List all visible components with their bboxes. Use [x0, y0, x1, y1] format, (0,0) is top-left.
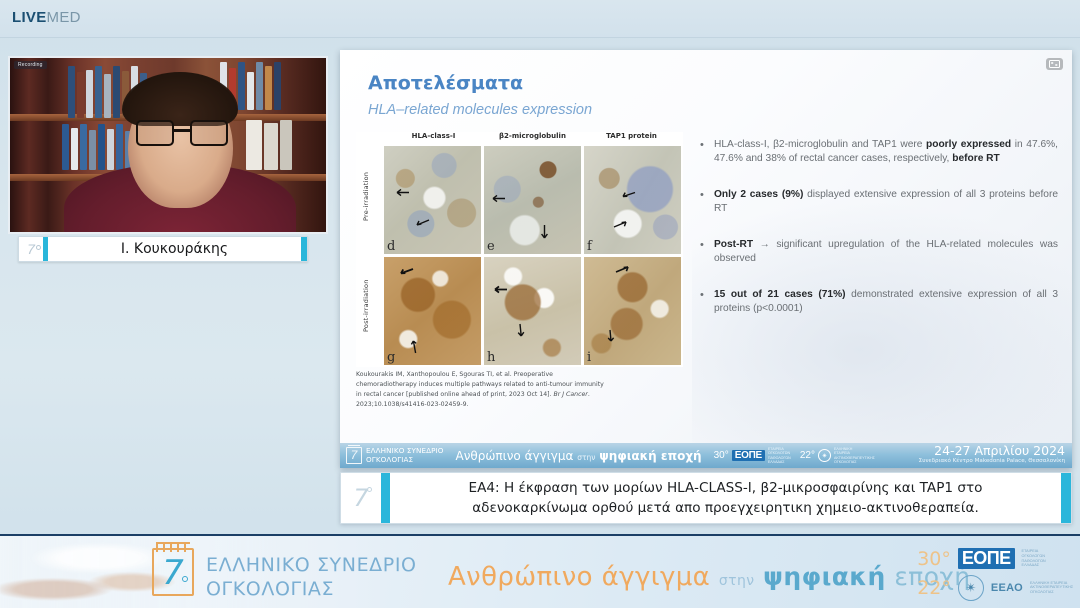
figure-panel-grid: d e: [384, 146, 681, 365]
brandbar-eelo-subtitle: ΕΛΛΗΝΙΚΗ ΕΤΑΙΡΕΙΑ ΑΚΤΙΝΟΘΕΡΑΠΕΥΤΙΚΗΣ ΟΓΚ…: [1030, 581, 1070, 595]
brandbar-eelo-number: 22°: [917, 577, 951, 599]
congress-venue: Συνεδριακό Κέντρο Makedonia Palace, Θεσσ…: [919, 457, 1065, 465]
brandbar-eelo-logo: ΕΕΑΟ: [991, 582, 1023, 594]
panel-letter-d: d: [387, 239, 395, 254]
crab-seal-icon: ✴: [958, 575, 984, 601]
speaker-glasses: [136, 120, 228, 146]
accent-bar-right: [301, 237, 307, 261]
congress-line-2: ΟΓΚΟΛΟΓΙΑΣ: [366, 456, 444, 464]
org-eelo-subtitle: ΕΛΛΗΝΙΚΗ ΕΤΑΙΡΕΙΑ ΑΚΤΙΝΟΘΕΡΑΠΕΥΤΙΚΗΣ ΟΓΚ…: [834, 447, 860, 464]
citation-line-2: chemoradiotherapy induces multiple pathw…: [356, 380, 676, 390]
panel-letter-i: i: [587, 350, 591, 365]
org-eelo-number: 22°: [800, 450, 815, 461]
micrograph-panel-e: e: [484, 146, 581, 254]
figure-row-label-pre: Pre-irradiation: [362, 154, 375, 239]
speaker-name-plate: 7 Ι. Κουκουράκης: [18, 236, 308, 262]
brandbar-eope-logo: ΕΟΠΕ: [958, 548, 1015, 569]
panel-letter-e: e: [487, 239, 495, 254]
accent-bar-left: [381, 473, 390, 523]
bullet-text: HLA-class-I, β2-microglobulin and TAP1 w…: [714, 138, 1058, 167]
citation-line-4: 2023;10.1038/s41416-023-02459-9.: [356, 400, 676, 410]
bullet-marker-icon: •: [700, 288, 714, 317]
brandbar-theme: Ανθρώπινο άγγιγμα στην ψηφιακή εποχή: [448, 562, 970, 592]
crab-seal-icon: ✴: [818, 449, 831, 462]
logo-med-text: MED: [47, 9, 81, 26]
brandbar-eope-subtitle: ΕΤΑΙΡΕΙΑ ΟΓΚΟΛΟΓΩΝ ΠΑΘΟΛΟΓΩΝ ΕΛΛΑΔΑΣ: [1022, 549, 1062, 567]
brandbar-congress-line-2: ΟΓΚΟΛΟΓΙΑΣ: [206, 577, 417, 601]
panel-letter-h: h: [487, 350, 495, 365]
bullet-marker-icon: •: [700, 188, 714, 217]
slide-footer-org-logos: 30° ΕΟΠΕ ΕΤΑΙΡΕΙΑ ΟΓΚΟΛΟΓΩΝ ΠΑΘΟΛΟΓΩΝ ΕΛ…: [714, 447, 860, 464]
slide-footer-date-block: 24-27 Απριλίου 2024 Συνεδριακό Κέντρο Ma…: [919, 444, 1065, 465]
bullet-text: Only 2 cases (9%) displayed extensive ex…: [714, 188, 1058, 217]
badge-degree-ring-icon: [182, 576, 188, 582]
book-row-4: [246, 120, 292, 170]
caption-line-1: ΕΑ4: Η έκφραση των μορίων HLA-CLASS-I, β…: [469, 478, 983, 498]
theme-small: στην: [577, 453, 595, 462]
bullet-emphasis: before RT: [952, 153, 1000, 164]
caption-line-2: αδενοκαρκίνωμα ορθού μετά απο προεγχειρη…: [469, 498, 983, 518]
micrograph-panel-i: i: [584, 257, 681, 365]
speaker-video-tile[interactable]: Recording: [8, 56, 328, 234]
org-eelo-block: 22° ✴ ΕΛΛΗΝΙΚΗ ΕΤΑΙΡΕΙΑ ΑΚΤΙΝΟΘΕΡΑΠΕΥΤΙΚ…: [800, 447, 860, 464]
slide-footer-theme: Ανθρώπινο άγγιγμα στην ψηφιακή εποχή: [456, 449, 702, 463]
figure-col-header-2: TAP1 protein: [582, 132, 681, 145]
top-header-bar: LIVEMED: [0, 0, 1080, 38]
session-caption-bar: 7 ΕΑ4: Η έκφραση των μορίων HLA-CLASS-I,…: [340, 472, 1072, 524]
fullscreen-icon[interactable]: [1046, 58, 1063, 70]
slide-bullet-list: •HLA-class-I, β2-microglobulin and TAP1 …: [700, 138, 1058, 338]
citation-line-1: Koukourakis IM, Xanthopoulou E, Sgouras …: [356, 370, 676, 380]
bullet-item: •Only 2 cases (9%) displayed extensive e…: [700, 188, 1058, 217]
bullet-item: •15 out of 21 cases (71%) demonstrated e…: [700, 288, 1058, 317]
figure-col-header-1: β2-microglobulin: [483, 132, 582, 145]
bullet-item: •Post-RT → significant upregulation of t…: [700, 238, 1058, 267]
brandbar-congress-name: ΕΛΛΗΝΙΚΟ ΣΥΝΕΔΡΙΟ ΟΓΚΟΛΟΓΙΑΣ: [206, 553, 417, 602]
speaker-name: Ι. Κουκουράκης: [48, 241, 301, 257]
congress-badge-icon: 7: [19, 237, 43, 261]
citation-line-3: in rectal cancer [published online ahead…: [356, 390, 676, 400]
micrograph-panel-h: h: [484, 257, 581, 365]
slide-title: Αποτελέσματα: [368, 72, 523, 94]
org-eope-block: 30° ΕΟΠΕ ΕΤΑΙΡΕΙΑ ΟΓΚΟΛΟΓΩΝ ΠΑΘΟΛΟΓΩΝ ΕΛ…: [714, 447, 794, 464]
figure-col-header-0: HLA-class-I: [384, 132, 483, 145]
bullet-emphasis: 15 out of 21 cases (71%): [714, 289, 846, 300]
recording-badge: Recording: [14, 61, 47, 69]
brandbar-theme-small: στην: [719, 573, 755, 589]
bullet-text: 15 out of 21 cases (71%) demonstrated ex…: [714, 288, 1058, 317]
theme-bold: ψηφιακή εποχή: [599, 449, 701, 463]
micrograph-panel-f: f: [584, 146, 681, 254]
histology-figure: HLA-class-I β2-microglobulin TAP1 protei…: [356, 132, 683, 367]
bullet-text: Post-RT → significant upregulation of th…: [714, 238, 1058, 267]
brandbar-org-eope: 30° ΕΟΠΕ ΕΤΑΙΡΕΙΑ ΟΓΚΟΛΟΓΩΝ ΠΑΘΟΛΟΓΩΝ ΕΛ…: [917, 544, 1070, 573]
panel-letter-g: g: [387, 350, 395, 365]
slide-subtitle: HLA–related molecules expression: [368, 102, 592, 118]
slide-footer-congress-name: ΕΛΛΗΝΙΚΟ ΣΥΝΕΔΡΙΟ ΟΓΚΟΛΟΓΙΑΣ: [366, 447, 444, 464]
bullet-emphasis: Only 2 cases (9%): [714, 189, 803, 200]
brandbar-theme-digital: ψηφιακή: [763, 562, 885, 591]
theme-main: Ανθρώπινο άγγιγμα: [456, 449, 574, 463]
citation-line-3-end: .: [588, 391, 590, 398]
slide-content-area: Αποτελέσματα HLA–related molecules expre…: [340, 50, 1072, 443]
brandbar-eope-number: 30°: [917, 548, 951, 570]
bullet-emphasis: Post-RT: [714, 239, 753, 250]
bullet-run: → significant upregulation of the HLA-re…: [714, 239, 1058, 264]
figure-row-label-post: Post-irradiation: [362, 262, 375, 350]
figure-column-headers: HLA-class-I β2-microglobulin TAP1 protei…: [384, 132, 681, 145]
brandbar-org-eelo: 22° ✴ ΕΕΑΟ ΕΛΛΗΝΙΚΗ ΕΤΑΙΡΕΙΑ ΑΚΤΙΝΟΘΕΡΑΠ…: [917, 573, 1070, 602]
bullet-marker-icon: •: [700, 238, 714, 267]
org-eope-logo: ΕΟΠΕ: [732, 450, 765, 461]
badge-degree-ring-icon: [367, 487, 372, 492]
bottom-brand-bar: 7 ΕΛΛΗΝΙΚΟ ΣΥΝΕΔΡΙΟ ΟΓΚΟΛΟΓΙΑΣ Ανθρώπινο…: [0, 534, 1080, 608]
org-eope-subtitle: ΕΤΑΙΡΕΙΑ ΟΓΚΟΛΟΓΩΝ ΠΑΘΟΛΟΓΩΝ ΕΛΛΑΔΑΣ: [768, 447, 794, 464]
brandbar-theme-main: Ανθρώπινο άγγιγμα: [448, 562, 710, 592]
livemed-logo: LIVEMED: [12, 9, 81, 26]
congress-date: 24-27 Απριλίου 2024: [919, 444, 1065, 457]
brandbar-congress-line-1: ΕΛΛΗΝΙΚΟ ΣΥΝΕΔΡΙΟ: [206, 553, 417, 577]
congress-badge-icon: 7: [341, 473, 381, 523]
org-eope-number: 30°: [714, 450, 729, 461]
logo-live-text: LIVE: [12, 9, 47, 26]
slide-footer-bar: 7 ΕΛΛΗΝΙΚΟ ΣΥΝΕΔΡΙΟ ΟΓΚΟΛΟΓΙΑΣ Ανθρώπινο…: [340, 443, 1072, 468]
caption-text: ΕΑ4: Η έκφραση των μορίων HLA-CLASS-I, β…: [390, 473, 1061, 523]
citation-journal: Br J Cancer: [554, 391, 588, 398]
micrograph-panel-d: d: [384, 146, 481, 254]
accent-bar-right: [1061, 473, 1071, 523]
congress-badge-icon: 7: [152, 548, 194, 596]
panel-letter-f: f: [587, 239, 592, 254]
congress-badge-icon: 7: [346, 447, 362, 464]
citation-line-3-text: in rectal cancer [published online ahead…: [356, 391, 554, 398]
slide-panel[interactable]: Αποτελέσματα HLA–related molecules expre…: [340, 50, 1072, 468]
bullet-run: HLA-class-I, β2-microglobulin and TAP1 w…: [714, 139, 926, 150]
bullet-item: •HLA-class-I, β2-microglobulin and TAP1 …: [700, 138, 1058, 167]
bullet-marker-icon: •: [700, 138, 714, 167]
slide-footer-congress-block: 7 ΕΛΛΗΝΙΚΟ ΣΥΝΕΔΡΙΟ ΟΓΚΟΛΟΓΙΑΣ: [346, 447, 444, 464]
figure-citation: Koukourakis IM, Xanthopoulou E, Sgouras …: [356, 370, 676, 410]
bullet-emphasis: poorly expressed: [926, 139, 1011, 150]
brandbar-badge-number: 7: [162, 553, 184, 593]
micrograph-panel-g: g: [384, 257, 481, 365]
brandbar-org-logos: 30° ΕΟΠΕ ΕΤΑΙΡΕΙΑ ΟΓΚΟΛΟΓΩΝ ΠΑΘΟΛΟΓΩΝ ΕΛ…: [917, 544, 1070, 602]
